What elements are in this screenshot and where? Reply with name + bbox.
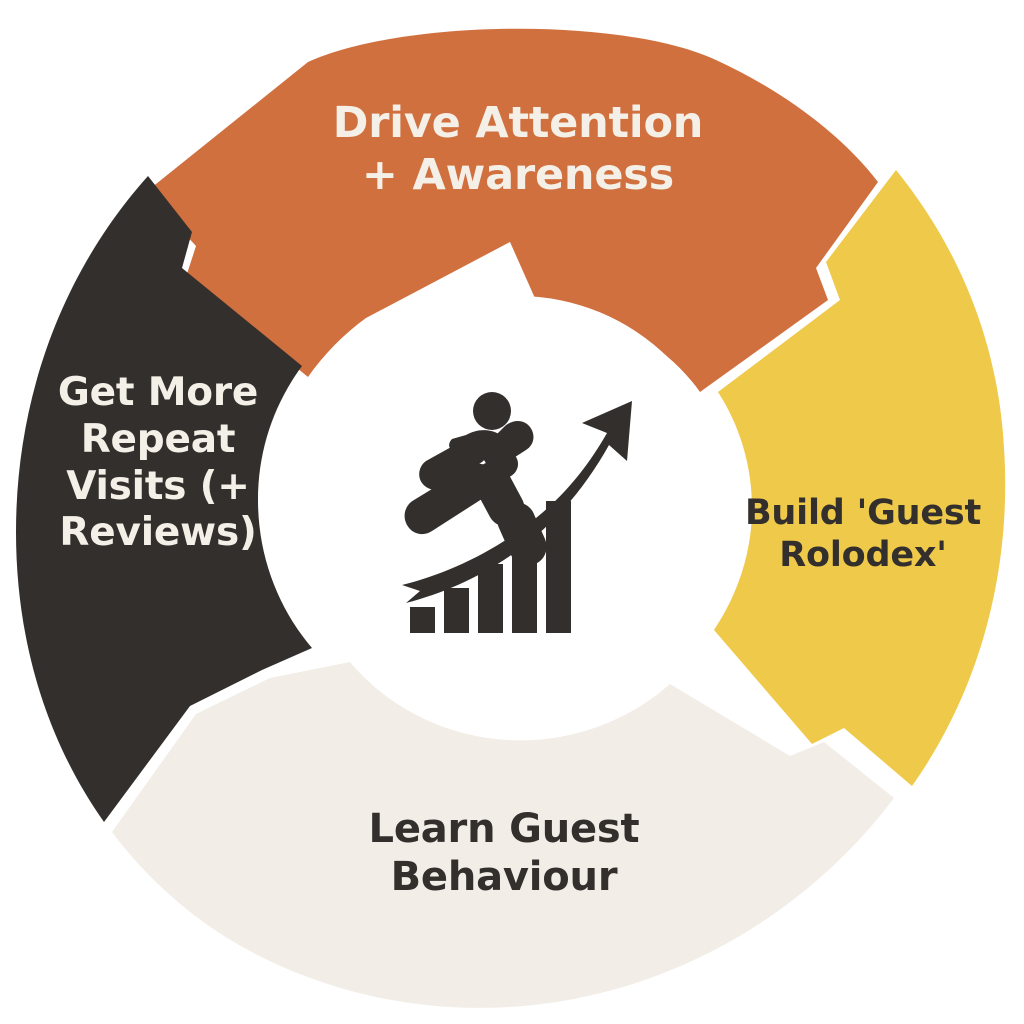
segment-label-learn-guest-behaviour: Learn Guest Behaviour [318, 805, 690, 901]
segment-label-get-more-repeat-visits: Get More Repeat Visits (+ Reviews) [34, 370, 282, 557]
running-person-growth-chart-icon [396, 383, 636, 633]
growth-icon-wrapper [396, 383, 636, 633]
segment-label-build-guest-rolodex: Build 'Guest Rolodex' [722, 492, 1004, 576]
cycle-diagram: Drive Attention + Awareness Build 'Guest… [0, 0, 1024, 1024]
segment-label-drive-attention: Drive Attention + Awareness [312, 98, 724, 201]
